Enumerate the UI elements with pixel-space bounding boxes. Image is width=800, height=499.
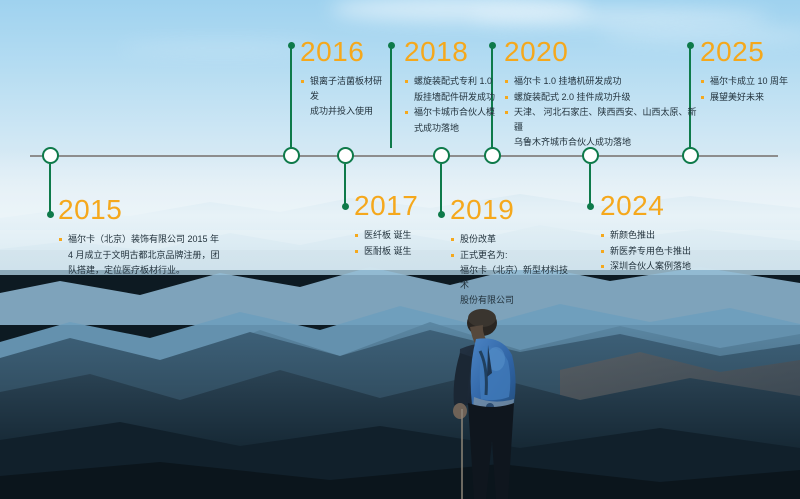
cloud-wisp [470,8,770,26]
bullet-item: 银离子洁菌板材研发 [300,74,390,103]
bullet-item: 医耐板 诞生 [354,244,434,259]
stem-2018 [390,44,392,148]
timeline-node-2016[interactable] [283,147,300,164]
timeline-entry-2015: 2015 福尔卡（北京）装饰有限公司 2015 年 4 月成立于文明古都北京品牌… [58,196,228,279]
bullet-item: 式成功落地 [404,121,496,136]
year-label-2018: 2018 [404,38,496,66]
timeline-entry-2025: 2025 福尔卡成立 10 周年 展望美好未来 [700,38,796,105]
bullet-list-2019: 股份改革 正式更名为: 福尔卡（北京）新型材料技术 股份有限公司 [450,232,570,308]
bullet-item: 螺旋装配式专利 1.0 [404,74,496,89]
year-label-2017: 2017 [354,192,434,220]
bullet-item: 4 月成立于文明古都北京品牌注册，团 [58,248,228,263]
bullet-item: 福尔卡 1.0 挂墙机研发成功 [504,74,700,89]
stem-dot-2024 [587,203,594,210]
bullet-item: 深圳合伙人案例落地 [600,259,720,274]
stem-2015 [49,164,51,214]
year-label-2015: 2015 [58,196,228,224]
year-label-2025: 2025 [700,38,796,66]
bullet-item: 福尔卡（北京）新型材料技术 [450,263,570,292]
bullet-item: 成功并投入使用 [300,104,390,119]
year-label-2020: 2020 [504,38,700,66]
timeline-node-2020[interactable] [484,147,501,164]
bullet-item: 乌鲁木齐城市合伙人成功落地 [504,135,700,150]
timeline-node-2017[interactable] [337,147,354,164]
bullet-item: 新医养专用色卡推出 [600,244,720,259]
stem-2016 [290,44,292,148]
bullet-item: 新颜色推出 [600,228,720,243]
stem-2017 [344,164,346,206]
timeline-entry-2019: 2019 股份改革 正式更名为: 福尔卡（北京）新型材料技术 股份有限公司 [450,196,570,309]
bullet-list-2018: 螺旋装配式专利 1.0 版挂墙配件研发成功 福尔卡城市合伙人模 式成功落地 [404,74,496,135]
bullet-item: 螺旋装配式 2.0 挂件成功升级 [504,90,700,105]
year-label-2016: 2016 [300,38,390,66]
timeline-entry-2020: 2020 福尔卡 1.0 挂墙机研发成功 螺旋装配式 2.0 挂件成功升级 天津… [504,38,700,151]
stem-dot-2015 [47,211,54,218]
bullet-item: 天津、 河北石家庄、陕西西安、山西太原、新疆 [504,105,700,134]
timeline-entry-2017: 2017 医纤板 诞生 医耐板 诞生 [354,192,434,259]
bullet-item: 展望美好未来 [700,90,796,105]
bullet-item: 福尔卡成立 10 周年 [700,74,796,89]
bullet-item: 正式更名为: [450,248,570,263]
stem-dot-2016 [288,42,295,49]
hiker-figure [430,305,560,499]
bullet-list-2024: 新颜色推出 新医养专用色卡推出 深圳合伙人案例落地 [600,228,720,274]
bullet-item: 版挂墙配件研发成功 [404,90,496,105]
foreground-terrain [0,330,800,499]
bullet-list-2015: 福尔卡（北京）装饰有限公司 2015 年 4 月成立于文明古都北京品牌注册，团 … [58,232,228,278]
bullet-item: 队搭建，定位医疗板材行业。 [58,263,228,278]
timeline-node-2015[interactable] [42,147,59,164]
year-label-2024: 2024 [600,192,720,220]
timeline-entry-2024: 2024 新颜色推出 新医养专用色卡推出 深圳合伙人案例落地 [600,192,720,275]
timeline-axis [30,155,778,157]
year-label-2019: 2019 [450,196,570,224]
bullet-item: 医纤板 诞生 [354,228,434,243]
timeline-node-2018-2019[interactable] [433,147,450,164]
bullet-item: 福尔卡城市合伙人模 [404,105,496,120]
bullet-list-2025: 福尔卡成立 10 周年 展望美好未来 [700,74,796,104]
timeline-entry-2018: 2018 螺旋装配式专利 1.0 版挂墙配件研发成功 福尔卡城市合伙人模 式成功… [404,38,496,136]
bullet-list-2016: 银离子洁菌板材研发 成功并投入使用 [300,74,390,119]
stem-dot-2017 [342,203,349,210]
timeline-infographic: 2016 银离子洁菌板材研发 成功并投入使用 2018 螺旋装配式专利 1.0 … [0,0,800,499]
stem-2019 [440,164,442,214]
bullet-item: 股份有限公司 [450,293,570,308]
bullet-item: 股份改革 [450,232,570,247]
stem-2024 [589,164,591,206]
bullet-list-2017: 医纤板 诞生 医耐板 诞生 [354,228,434,258]
bullet-list-2020: 福尔卡 1.0 挂墙机研发成功 螺旋装配式 2.0 挂件成功升级 天津、 河北石… [504,74,700,150]
bullet-item: 福尔卡（北京）装饰有限公司 2015 年 [58,232,228,247]
timeline-entry-2016: 2016 银离子洁菌板材研发 成功并投入使用 [300,38,390,120]
stem-dot-2019 [438,211,445,218]
